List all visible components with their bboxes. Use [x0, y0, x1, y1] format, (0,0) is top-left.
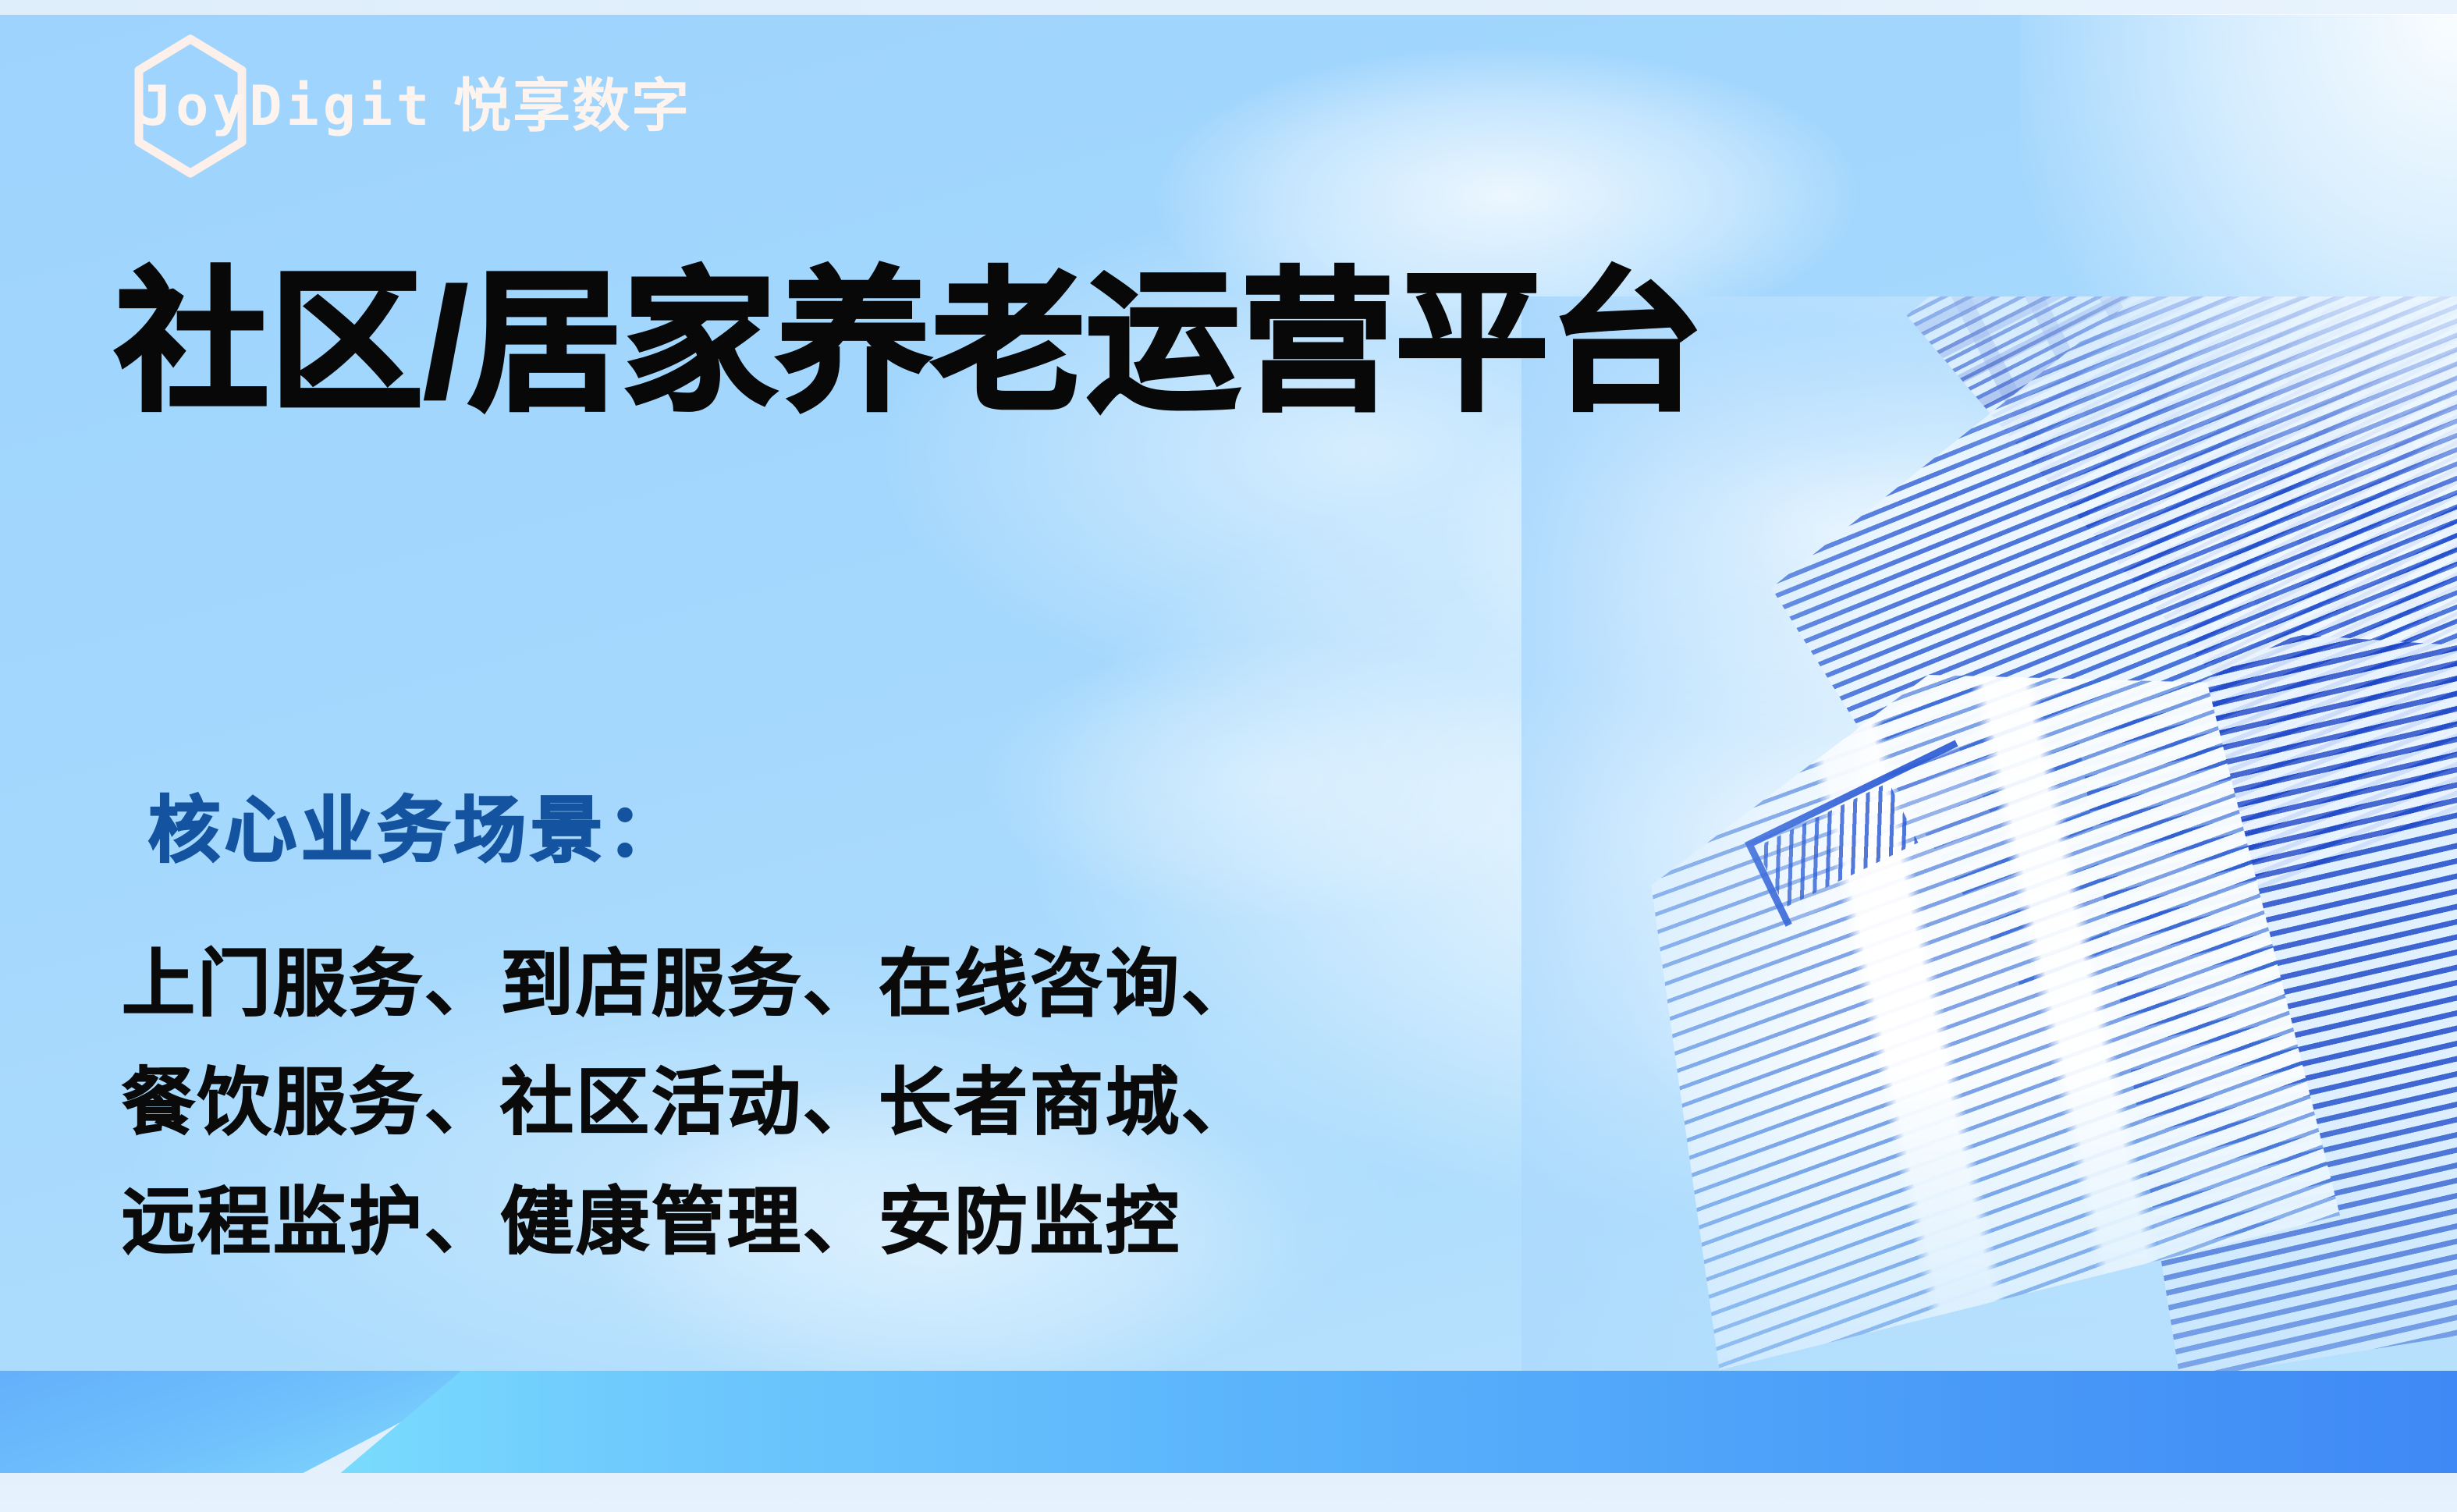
- logo-wordmark-cn: 悦享数字: [453, 77, 691, 135]
- top-edge-strip: [0, 0, 2457, 15]
- scenario-line: 远程监护、健康管理、安防监控: [122, 1162, 1257, 1281]
- scenario-line: 上门服务、到店服务、在线咨询、: [122, 925, 1257, 1043]
- scenario-line: 餐饮服务、社区活动、长者商城、: [122, 1043, 1257, 1162]
- section-heading: 核心业务场景：: [148, 772, 683, 876]
- bottom-ribbon: [0, 1371, 2457, 1512]
- logo-wordmark: JoyDigit: [139, 79, 433, 133]
- brand-logo: JoyDigit 悦享数字: [139, 67, 691, 145]
- page-title: 社区/居家养老运营平台: [115, 264, 1704, 423]
- slide-canvas: JoyDigit 悦享数字 社区/居家养老运营平台 核心业务场景： 上门服务、到…: [0, 0, 2457, 1512]
- scenario-list: 上门服务、到店服务、在线咨询、 餐饮服务、社区活动、长者商城、 远程监护、健康管…: [122, 925, 1257, 1281]
- ribbon-shape-right: [328, 1371, 2457, 1473]
